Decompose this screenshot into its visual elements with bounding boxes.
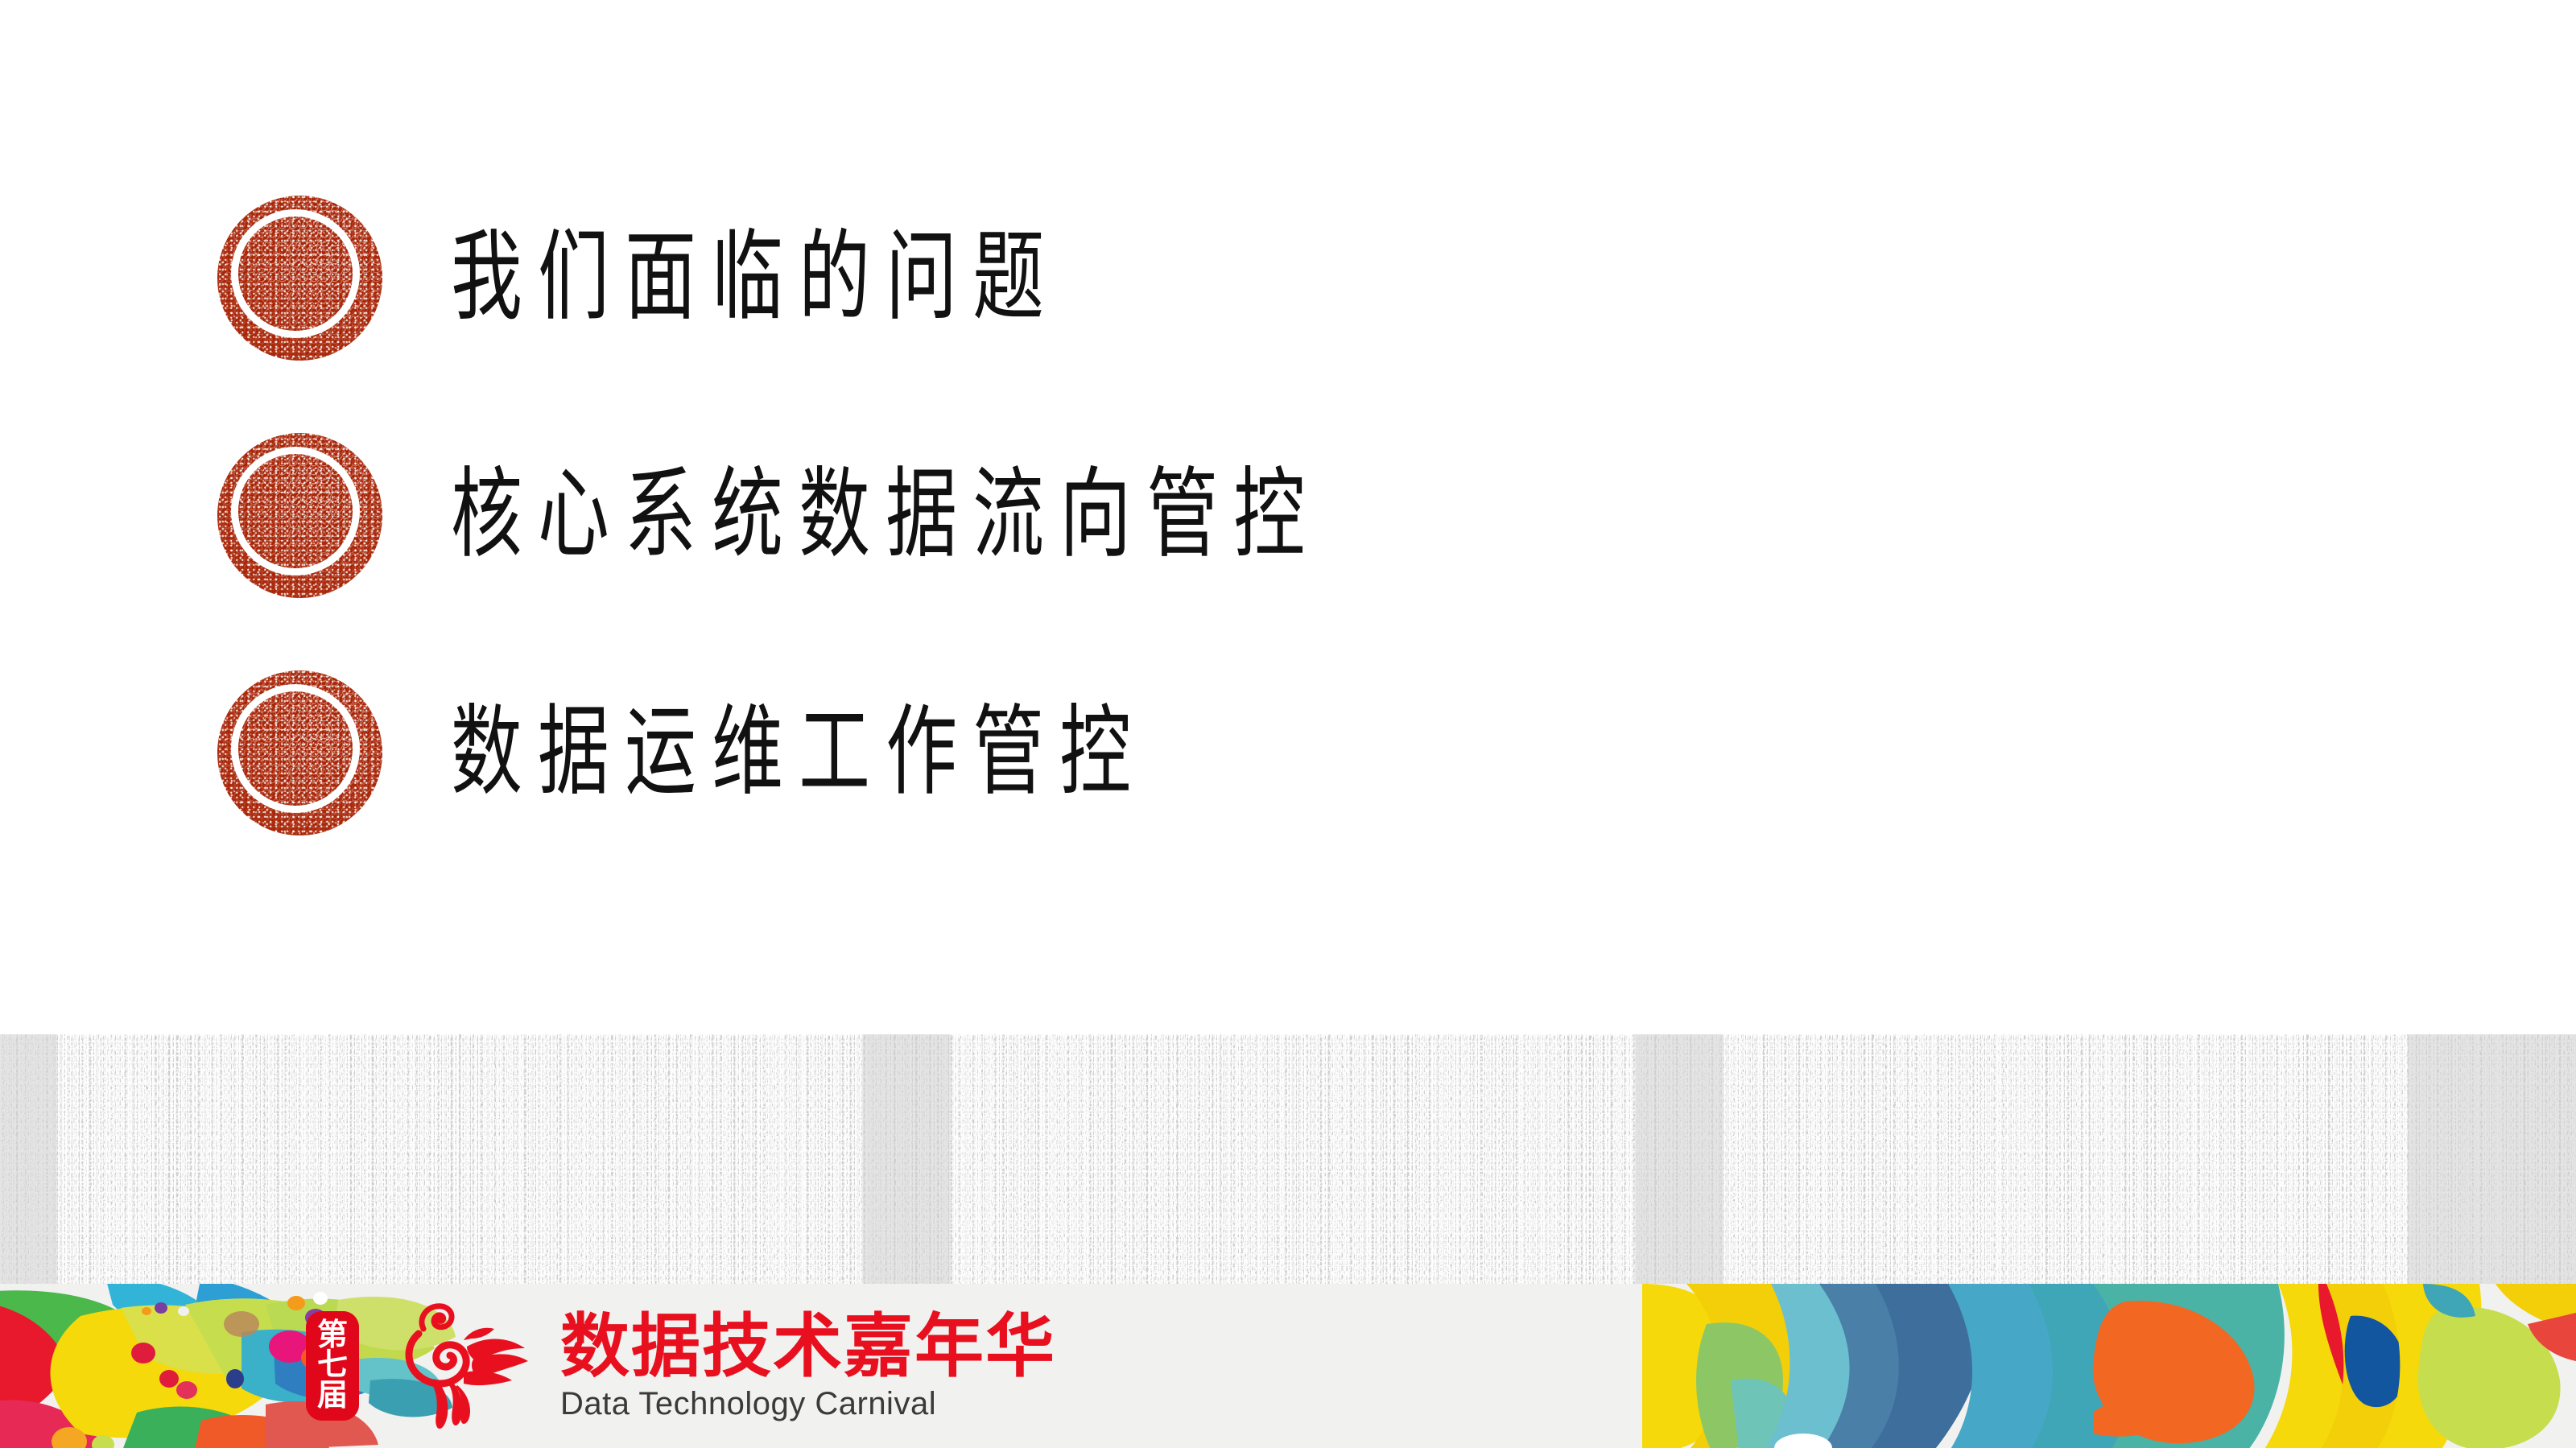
edition-badge-line-2: 七 [317, 1351, 348, 1380]
brand-name-en: Data Technology Carnival [560, 1388, 1056, 1420]
agenda-item-2[interactable]: 核心系统数据流向管控 [217, 431, 1626, 600]
agenda-item-label: 数据运维工作管控 [451, 703, 1146, 802]
agenda-item-3[interactable]: 数据运维工作管控 [217, 668, 1391, 837]
brand-name-cn: 数据技术嘉年华 [560, 1312, 1056, 1381]
agenda-item-1[interactable]: 我们面临的问题 [217, 193, 1274, 362]
slide-footer: 第 七 届 数据技术嘉年华 Data Te [0, 1284, 2576, 1448]
presentation-slide: 我们面临的问题 核心系统数据流向管控 数据运维工作管控 [0, 0, 2576, 1448]
ring-bullet-icon [217, 196, 382, 361]
agenda-item-label: 我们面临的问题 [451, 229, 1059, 327]
ring-bullet-icon [217, 670, 382, 835]
edition-badge-line-1: 第 [317, 1321, 348, 1351]
edition-badge-line-3: 届 [317, 1381, 348, 1411]
decorative-artwork-right [1610, 1284, 2576, 1448]
brand-wordmark: 数据技术嘉年华 Data Technology Carnival [560, 1312, 1056, 1420]
brand-logo-lockup: 第 七 届 数据技术嘉年华 Data Te [306, 1284, 1056, 1448]
grunge-texture-band [0, 1034, 2576, 1284]
artwork-right-svg [1610, 1284, 2576, 1448]
agenda-item-label: 核心系统数据流向管控 [451, 466, 1320, 564]
phoenix-logo-icon [386, 1302, 539, 1430]
ring-bullet-icon [217, 433, 382, 598]
edition-seal-badge: 第 七 届 [306, 1311, 359, 1421]
